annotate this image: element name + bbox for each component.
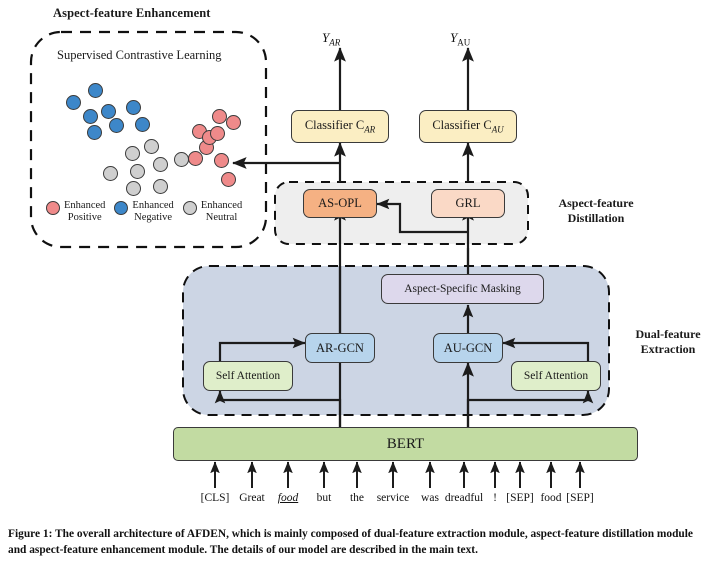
extraction-title-line2: Extraction bbox=[618, 342, 718, 357]
legend-item-label: EnhancedNegative bbox=[132, 200, 173, 224]
scatter-dot-negative bbox=[83, 109, 98, 124]
self-attention-right-label: Self Attention bbox=[524, 370, 588, 382]
au-gcn-node[interactable]: AU-GCN bbox=[433, 333, 503, 363]
bert-label: BERT bbox=[387, 436, 424, 453]
scatter-dot-neutral bbox=[174, 152, 189, 167]
legend-swatch-icon bbox=[114, 201, 128, 215]
distillation-module-title: Aspect-feature Distillation bbox=[537, 196, 655, 226]
scatter-dot-positive bbox=[221, 172, 236, 187]
legend-label-line1: Enhanced bbox=[64, 200, 105, 212]
aspect-specific-masking-node[interactable]: Aspect-Specific Masking bbox=[381, 274, 544, 304]
scatter-dot-neutral bbox=[125, 146, 140, 161]
figure-caption: Figure 1: The overall architecture of AF… bbox=[8, 526, 712, 558]
scatter-dot-negative bbox=[87, 125, 102, 140]
extraction-title-line1: Dual-feature bbox=[618, 327, 718, 342]
legend-label-line2: Neutral bbox=[201, 212, 242, 224]
legend-label-line1: Enhanced bbox=[201, 200, 242, 212]
scatter-dot-negative bbox=[109, 118, 124, 133]
scatter-dot-negative bbox=[126, 100, 141, 115]
legend-item: EnhancedNeutral bbox=[183, 200, 242, 224]
extraction-module-title: Dual-feature Extraction bbox=[618, 327, 718, 357]
scatter-dot-positive bbox=[214, 153, 229, 168]
scatter-dot-negative bbox=[135, 117, 150, 132]
scatter-dot-neutral bbox=[130, 164, 145, 179]
grl-node[interactable]: GRL bbox=[431, 189, 505, 218]
au-gcn-label: AU-GCN bbox=[444, 341, 493, 356]
scatter-dot-neutral bbox=[153, 157, 168, 172]
aspect-specific-masking-label: Aspect-Specific Masking bbox=[404, 283, 521, 295]
input-token: [SEP] bbox=[546, 492, 614, 504]
legend-item: EnhancedPositive bbox=[46, 200, 105, 224]
classifier-ar-node[interactable]: Classifier CAR bbox=[291, 110, 389, 143]
scatter-legend: EnhancedPositiveEnhancedNegativeEnhanced… bbox=[46, 200, 261, 224]
self-attention-right-node[interactable]: Self Attention bbox=[511, 361, 601, 391]
scatter-dot-positive bbox=[210, 126, 225, 141]
output-au-sub: AU bbox=[457, 38, 470, 48]
scatter-dot-positive bbox=[212, 109, 227, 124]
output-label-au: YAU bbox=[450, 30, 470, 48]
ar-gcn-label: AR-GCN bbox=[316, 341, 364, 356]
diagram-svg bbox=[0, 0, 720, 566]
legend-item: EnhancedNegative bbox=[114, 200, 173, 224]
scatter-dot-neutral bbox=[126, 181, 141, 196]
as-opl-label: AS-OPL bbox=[318, 196, 362, 211]
scatter-dot-positive bbox=[188, 151, 203, 166]
classifier-ar-sub: AR bbox=[364, 125, 375, 135]
scatter-dot-neutral bbox=[153, 179, 168, 194]
grl-label: GRL bbox=[456, 196, 481, 211]
scatter-dot-neutral bbox=[103, 166, 118, 181]
scatter-dot-negative bbox=[101, 104, 116, 119]
as-opl-node[interactable]: AS-OPL bbox=[303, 189, 377, 218]
self-attention-left-node[interactable]: Self Attention bbox=[203, 361, 293, 391]
bert-node[interactable]: BERT bbox=[173, 427, 638, 461]
legend-swatch-icon bbox=[46, 201, 60, 215]
figure-canvas: Aspect-feature Enhancement Supervised Co… bbox=[0, 0, 720, 566]
classifier-au-node[interactable]: Classifier CAU bbox=[419, 110, 517, 143]
scatter-dot-negative bbox=[88, 83, 103, 98]
distillation-title-line1: Aspect-feature bbox=[537, 196, 655, 211]
classifier-au-sub: AU bbox=[492, 125, 504, 135]
self-attention-left-label: Self Attention bbox=[216, 370, 280, 382]
output-ar-sub: AR bbox=[329, 38, 340, 48]
enhancement-module-title: Aspect-feature Enhancement bbox=[53, 6, 211, 21]
legend-item-label: EnhancedPositive bbox=[64, 200, 105, 224]
token-input-arrows bbox=[215, 462, 580, 488]
scatter-dot-neutral bbox=[144, 139, 159, 154]
legend-item-label: EnhancedNeutral bbox=[201, 200, 242, 224]
legend-label-line2: Negative bbox=[132, 212, 173, 224]
classifier-au-label: Classifier CAU bbox=[432, 118, 503, 135]
output-label-ar: YAR bbox=[322, 30, 340, 48]
supervised-contrastive-learning-title: Supervised Contrastive Learning bbox=[57, 48, 222, 63]
legend-label-line2: Positive bbox=[64, 212, 105, 224]
scatter-dot-negative bbox=[66, 95, 81, 110]
legend-swatch-icon bbox=[183, 201, 197, 215]
legend-label-line1: Enhanced bbox=[132, 200, 173, 212]
ar-gcn-node[interactable]: AR-GCN bbox=[305, 333, 375, 363]
scatter-dot-positive bbox=[226, 115, 241, 130]
distillation-title-line2: Distillation bbox=[537, 211, 655, 226]
classifier-ar-label: Classifier CAR bbox=[305, 118, 375, 135]
